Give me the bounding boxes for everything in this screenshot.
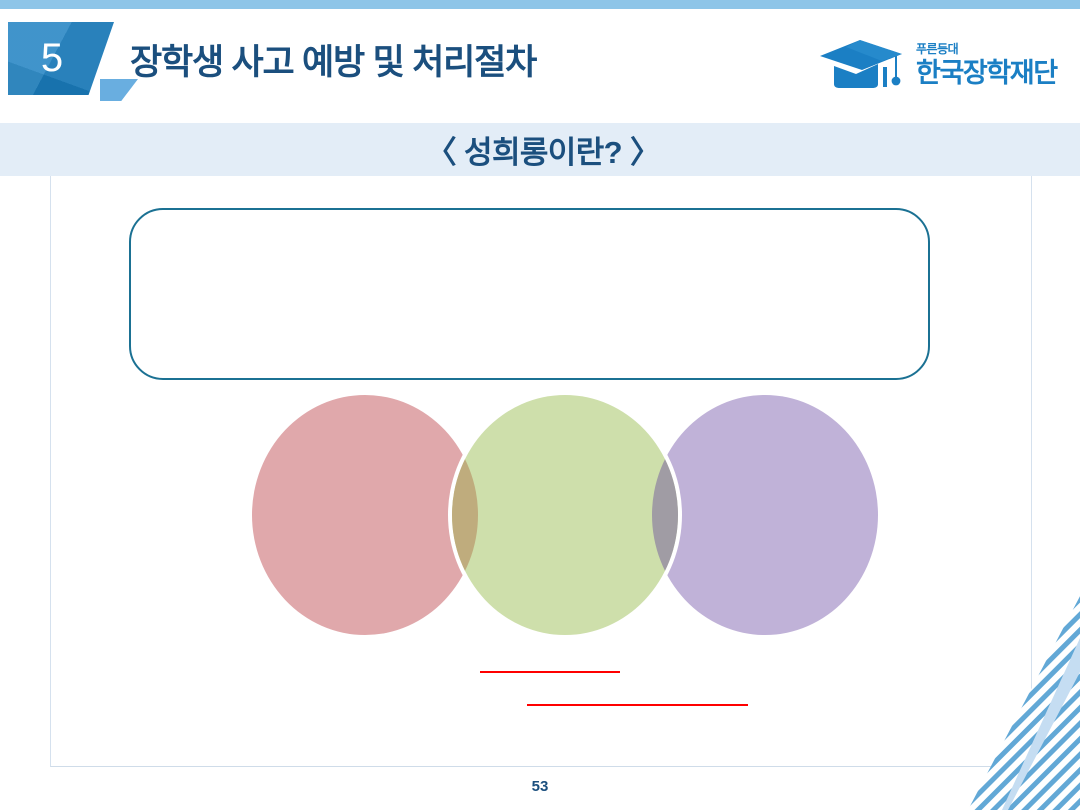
definition-callout-box <box>129 208 930 380</box>
circle-right-purple <box>652 395 878 635</box>
subtitle-band: 〈 성희롱이란? 〉 <box>0 123 1080 176</box>
organization-logo: 푸른등대 한국장학재단 <box>816 36 1064 92</box>
circle-center-green <box>452 395 678 635</box>
circle-left-pink <box>252 395 478 635</box>
subtitle-label: 〈 성희롱이란? 〉 <box>0 123 1080 176</box>
top-accent-strip <box>0 0 1080 9</box>
logo-tagline: 푸른등대 <box>916 42 959 56</box>
definition-callout-text <box>131 210 928 378</box>
logo-name: 한국장학재단 <box>916 58 1058 88</box>
section-number-badge: 5 <box>8 22 138 100</box>
red-underline-upper <box>480 671 620 673</box>
slide-header: 5 장학생 사고 예방 및 처리절차 푸른등대 한국장학재단 <box>0 9 1080 123</box>
page-number: 53 <box>0 778 1080 795</box>
red-underline-lower <box>527 704 748 706</box>
graduation-cap-icon <box>820 40 902 88</box>
venn-diagram <box>245 388 885 648</box>
section-number-label: 5 <box>8 22 96 95</box>
page-title: 장학생 사고 예방 및 처리절차 <box>130 34 536 85</box>
